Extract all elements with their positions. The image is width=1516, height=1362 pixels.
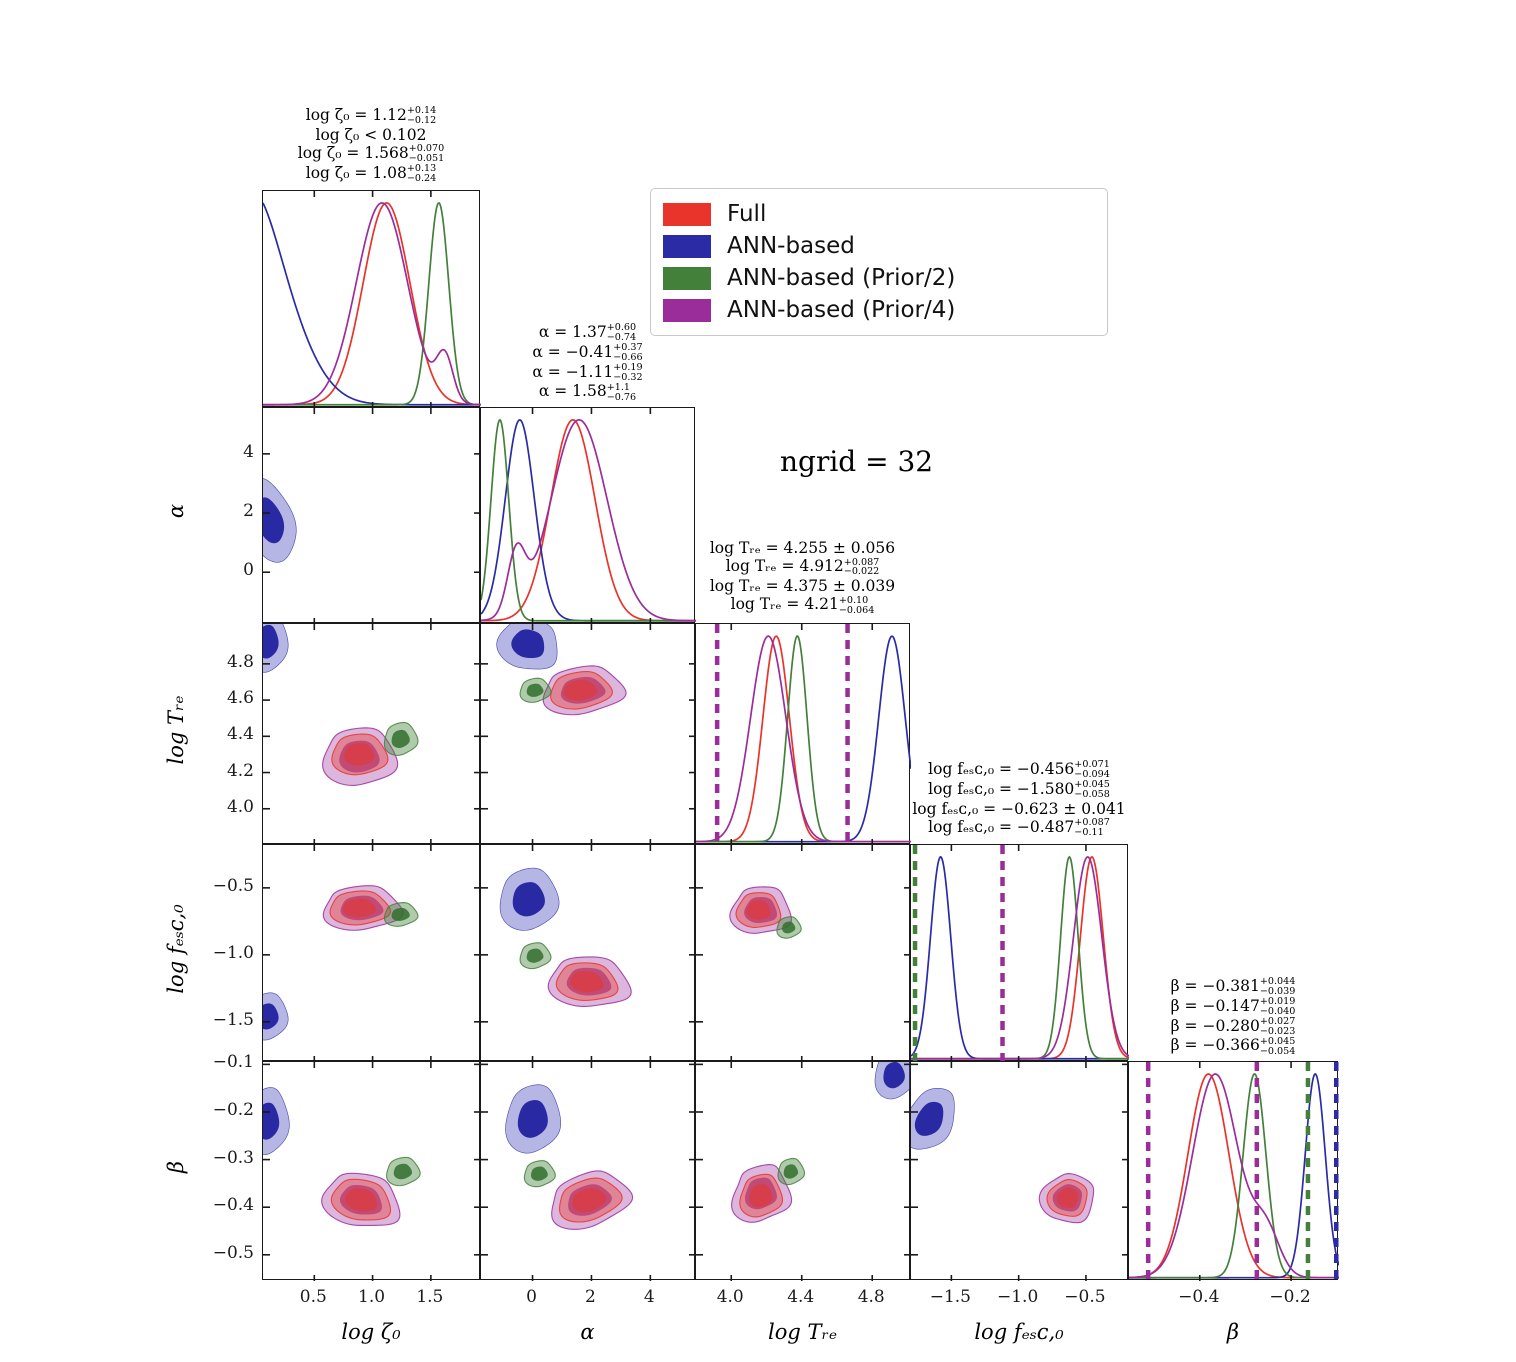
legend-swatch-2: [663, 267, 711, 290]
panel-hist-beta: [1128, 1061, 1338, 1280]
ytick-beta: −0.1: [184, 1052, 254, 1072]
hist-title-errors: +0.027−0.023: [1260, 1017, 1296, 1037]
hist-title-errors: +0.14−0.12: [407, 106, 436, 126]
panel-2d-beta-vs-logzeta: [262, 1061, 480, 1280]
ngrid-annotation: ngrid = 32: [780, 445, 933, 478]
yaxis-label-logfesc: log fₑₛᴄ,₀: [164, 859, 188, 1039]
hist-title-errors: +0.045−0.054: [1260, 1037, 1296, 1057]
ytick-beta: −0.4: [184, 1195, 254, 1215]
xtick-logTre: 4.8: [831, 1287, 911, 1307]
xaxis-label-logzeta: log ζ₀: [281, 1320, 461, 1344]
hist-title-line: log Tᵣₑ = 4.375 ± 0.039: [583, 577, 1023, 595]
legend-swatch-0: [663, 203, 711, 226]
panel-2d-logfesc-vs-alpha: [480, 844, 695, 1061]
hist-title-line: log Tᵣₑ = 4.21+0.10−0.064: [583, 595, 1023, 615]
hist-title-errors: +0.60−0.74: [607, 323, 636, 343]
hist-title-errors: +0.37−0.66: [613, 343, 642, 363]
legend-item-2[interactable]: ANN-based (Prior/2): [663, 262, 1093, 294]
hist-title-line: log Tᵣₑ = 4.255 ± 0.056: [583, 539, 1023, 557]
ytick-logfesc: −0.5: [184, 876, 254, 896]
ytick-logTre: 4.8: [184, 652, 254, 672]
ytick-logTre: 4.2: [184, 761, 254, 781]
hist-title-line: log fₑₛᴄ,₀ = −0.456+0.071−0.094: [799, 760, 1239, 780]
hist-title-line: log fₑₛᴄ,₀ = −1.580+0.045−0.058: [799, 780, 1239, 800]
legend-label-2: ANN-based (Prior/2): [727, 265, 955, 291]
hist-title-line: log ζ₀ < 0.102: [151, 126, 591, 144]
hist-title-text: log Tᵣₑ = 4.21: [731, 595, 839, 613]
hist-title-text: β = −0.381: [1171, 977, 1260, 995]
hist-title-text: log fₑₛᴄ,₀ = −0.456: [928, 760, 1074, 778]
ytick-alpha: 4: [184, 442, 254, 462]
legend-box: FullANN-basedANN-based (Prior/2)ANN-base…: [650, 188, 1108, 336]
hist-title-line: α = 1.58+1.1−0.76: [368, 382, 808, 402]
ytick-beta: −0.2: [184, 1100, 254, 1120]
panel-2d-logTre-vs-logzeta: [262, 623, 480, 844]
hist-title-errors: +0.087−0.022: [844, 558, 880, 578]
hist-title-errors: +0.10−0.064: [839, 596, 875, 616]
ytick-logfesc: −1.0: [184, 943, 254, 963]
hist-title-text: log ζ₀ = 1.12: [306, 106, 407, 124]
hist-title-errors: +0.19−0.32: [613, 363, 642, 383]
hist-title-text: log fₑₛᴄ,₀ = −1.580: [928, 780, 1074, 798]
panel-2d-logfesc-vs-logzeta: [262, 844, 480, 1061]
legend-swatch-3: [663, 299, 711, 322]
hist-title-text: α = 1.58: [539, 382, 607, 400]
xtick-alpha: 4: [609, 1287, 689, 1307]
hist-title-errors: +0.087−0.11: [1074, 818, 1110, 838]
legend-label-0: Full: [727, 201, 766, 227]
panel-2d-beta-vs-logfesc: [910, 1061, 1128, 1280]
xaxis-label-beta: β: [1143, 1320, 1323, 1344]
hist-title-logTre: log Tᵣₑ = 4.255 ± 0.056log Tᵣₑ = 4.912+0…: [583, 539, 1023, 615]
legend-label-3: ANN-based (Prior/4): [727, 297, 955, 323]
xtick-logTre: 4.4: [761, 1287, 841, 1307]
hist-title-line: log fₑₛᴄ,₀ = −0.487+0.087−0.11: [799, 818, 1239, 838]
legend-item-3[interactable]: ANN-based (Prior/4): [663, 294, 1093, 326]
hist-title-line: β = −0.147+0.019−0.040: [1013, 997, 1453, 1017]
corner-plot-figure: log ζ₀ = 1.12+0.14−0.12log ζ₀ < 0.102log…: [0, 0, 1516, 1362]
hist-title-text: β = −0.147: [1171, 997, 1260, 1015]
legend-label-1: ANN-based: [727, 233, 855, 259]
panel-2d-beta-vs-logTre: [695, 1061, 910, 1280]
xtick-beta: −0.2: [1250, 1287, 1330, 1307]
legend-item-0[interactable]: Full: [663, 198, 1093, 230]
ytick-beta: −0.5: [184, 1243, 254, 1263]
xtick-beta: −0.4: [1159, 1287, 1239, 1307]
hist-title-line: log ζ₀ = 1.12+0.14−0.12: [151, 106, 591, 126]
xaxis-label-alpha: α: [498, 1320, 678, 1344]
hist-title-text: β = −0.366: [1171, 1036, 1260, 1054]
panel-2d-beta-vs-alpha: [480, 1061, 695, 1280]
xtick-logzeta: 1.5: [390, 1287, 470, 1307]
hist-title-text: log ζ₀ = 1.568: [298, 144, 409, 162]
hist-title-errors: +0.13−0.24: [407, 164, 436, 184]
hist-title-line: β = −0.280+0.027−0.023: [1013, 1017, 1453, 1037]
ytick-logfesc: −1.5: [184, 1010, 254, 1030]
hist-title-errors: +0.019−0.040: [1260, 997, 1296, 1017]
ytick-alpha: 0: [184, 560, 254, 580]
ytick-logTre: 4.6: [184, 688, 254, 708]
hist-title-line: log ζ₀ = 1.08+0.13−0.24: [151, 164, 591, 184]
hist-title-line: β = −0.366+0.045−0.054: [1013, 1036, 1453, 1056]
hist-title-text: log fₑₛᴄ,₀ = −0.487: [928, 818, 1074, 836]
hist-title-line: β = −0.381+0.044−0.039: [1013, 977, 1453, 997]
ytick-logTre: 4.0: [184, 797, 254, 817]
hist-title-text: β = −0.280: [1171, 1017, 1260, 1035]
panel-2d-alpha-vs-logzeta: [262, 407, 480, 623]
xtick-logfesc: −0.5: [1045, 1287, 1125, 1307]
hist-title-text: log ζ₀ = 1.08: [306, 164, 407, 182]
hist-title-text: α = 1.37: [539, 323, 607, 341]
xaxis-label-logfesc: log fₑₛᴄ,₀: [929, 1320, 1109, 1344]
hist-title-errors: +0.044−0.039: [1260, 977, 1296, 997]
hist-title-line: α = −1.11+0.19−0.32: [368, 363, 808, 383]
hist-title-beta: β = −0.381+0.044−0.039β = −0.147+0.019−0…: [1013, 977, 1453, 1056]
yaxis-label-alpha: α: [164, 421, 188, 601]
hist-title-logfesc: log fₑₛᴄ,₀ = −0.456+0.071−0.094log fₑₛᴄ,…: [799, 760, 1239, 838]
panel-2d-logfesc-vs-logTre: [695, 844, 910, 1061]
hist-title-line: log fₑₛᴄ,₀ = −0.623 ± 0.041: [799, 800, 1239, 818]
hist-title-text: α = −1.11: [532, 363, 613, 381]
hist-title-text: log ζ₀ < 0.102: [316, 126, 427, 144]
ytick-alpha: 2: [184, 501, 254, 521]
hist-title-line: log Tᵣₑ = 4.912+0.087−0.022: [583, 557, 1023, 577]
ytick-beta: −0.3: [184, 1148, 254, 1168]
xtick-logTre: 4.0: [690, 1287, 770, 1307]
hist-title-text: log Tᵣₑ = 4.255 ± 0.056: [710, 539, 895, 557]
hist-title-line: log ζ₀ = 1.568+0.070−0.051: [151, 144, 591, 164]
hist-title-text: log Tᵣₑ = 4.912: [726, 557, 844, 575]
hist-title-line: α = −0.41+0.37−0.66: [368, 343, 808, 363]
legend-item-1[interactable]: ANN-based: [663, 230, 1093, 262]
yaxis-label-beta: β: [164, 1077, 188, 1257]
xaxis-label-logTre: log Tᵣₑ: [713, 1320, 893, 1344]
hist-title-text: log fₑₛᴄ,₀ = −0.623 ± 0.041: [912, 800, 1125, 818]
hist-title-errors: +1.1−0.76: [607, 383, 636, 403]
panel-2d-logTre-vs-alpha: [480, 623, 695, 844]
hist-title-text: α = −0.41: [532, 343, 613, 361]
hist-title-errors: +0.045−0.058: [1074, 780, 1110, 800]
ytick-logTre: 4.4: [184, 724, 254, 744]
yaxis-label-logTre: log Tᵣₑ: [164, 640, 188, 820]
hist-title-errors: +0.071−0.094: [1074, 760, 1110, 780]
hist-title-text: log Tᵣₑ = 4.375 ± 0.039: [710, 577, 895, 595]
hist-title-logzeta: log ζ₀ = 1.12+0.14−0.12log ζ₀ < 0.102log…: [151, 106, 591, 184]
hist-title-errors: +0.070−0.051: [409, 144, 445, 164]
legend-swatch-1: [663, 235, 711, 258]
